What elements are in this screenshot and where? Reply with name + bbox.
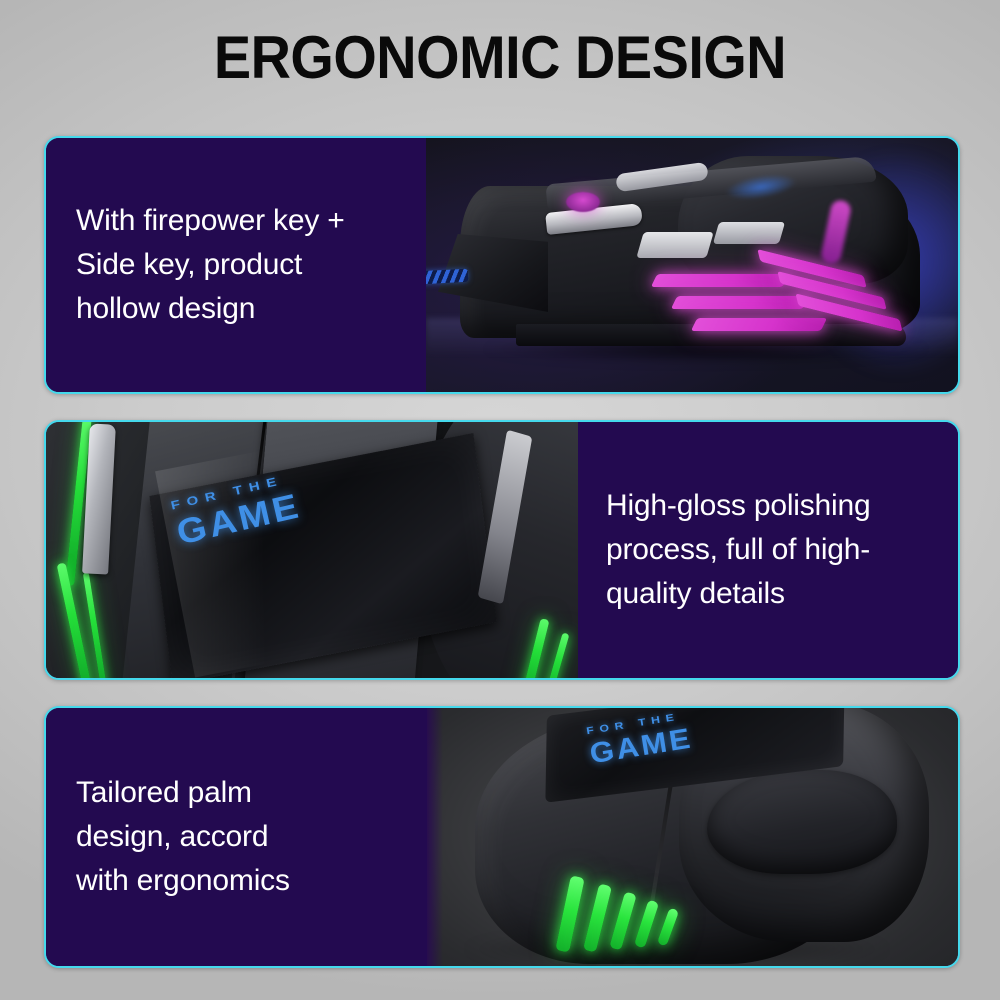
feature-line: hollow design bbox=[76, 287, 345, 331]
feature-line: High-gloss polishing bbox=[606, 484, 870, 528]
product-feature-page: ERGONOMIC DESIGN With firepower key + Si… bbox=[0, 0, 1000, 1000]
photo-edge-shade bbox=[427, 708, 443, 966]
feature-text-block: Tailored palm design, accord with ergono… bbox=[46, 708, 427, 966]
feature-copy: Tailored palm design, accord with ergono… bbox=[76, 771, 290, 903]
mouse-accent-button bbox=[713, 222, 785, 244]
feature-line: with ergonomics bbox=[76, 859, 290, 903]
mouse-scroll-wheel-led bbox=[566, 192, 600, 212]
gaming-mouse-rear-view-photo: FOR THE GAME bbox=[427, 708, 958, 966]
feature-copy: High-gloss polishing process, full of hi… bbox=[606, 484, 870, 616]
feature-panel-high-gloss: FOR THE GAME High-gloss polishing proces… bbox=[44, 420, 960, 680]
mouse-accent-button bbox=[636, 232, 713, 258]
feature-line: process, full of high- bbox=[606, 528, 870, 572]
feature-copy: With firepower key + Side key, product h… bbox=[76, 199, 345, 331]
mouse-braided-cable bbox=[426, 269, 468, 284]
feature-line: quality details bbox=[606, 572, 870, 616]
feature-text-block: High-gloss polishing process, full of hi… bbox=[578, 422, 958, 678]
gaming-mouse-gloss-closeup-photo: FOR THE GAME bbox=[46, 422, 578, 678]
page-title: ERGONOMIC DESIGN bbox=[35, 26, 965, 90]
feature-line: Tailored palm bbox=[76, 771, 290, 815]
gaming-mouse-side-view-photo bbox=[426, 138, 958, 392]
feature-line: With firepower key + bbox=[76, 199, 345, 243]
feature-text-block: With firepower key + Side key, product h… bbox=[46, 138, 426, 392]
feature-panel-firepower-key: With firepower key + Side key, product h… bbox=[44, 136, 960, 394]
mouse-led-chevron bbox=[651, 274, 789, 287]
feature-panel-tailored-palm: Tailored palm design, accord with ergono… bbox=[44, 706, 960, 968]
mouse-palm-rest bbox=[707, 770, 897, 874]
feature-line: design, accord bbox=[76, 815, 290, 859]
feature-line: Side key, product bbox=[76, 243, 345, 287]
mouse-led-chevron bbox=[691, 318, 827, 331]
mouse-led-chevron bbox=[671, 296, 809, 309]
